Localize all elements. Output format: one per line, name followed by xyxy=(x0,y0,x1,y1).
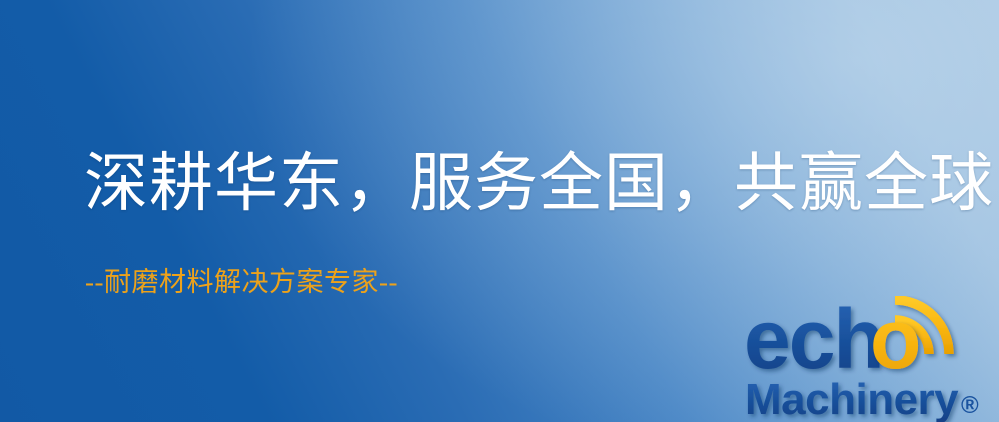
registered-mark-text: ® xyxy=(961,392,979,419)
logo-wordmark-text: ech xyxy=(744,296,883,386)
logo-wordmark-o: o xyxy=(870,296,921,386)
echo-machinery-logo[interactable]: ech o Machinery ® xyxy=(744,296,994,422)
logo-subword: Machinery xyxy=(745,375,959,422)
page-title: 深耕华东，服务全国，共赢全球 xyxy=(84,150,994,217)
logo-subword-text: Machinery xyxy=(745,375,959,422)
logo-wordmark-ech: ech xyxy=(744,296,883,386)
hero-banner: 深耕华东，服务全国，共赢全球 --耐磨材料解决方案专家-- xyxy=(0,0,999,422)
logo-o-text: o xyxy=(870,296,921,386)
page-subtitle: --耐磨材料解决方案专家-- xyxy=(85,266,398,298)
registered-trademark-icon: ® xyxy=(961,392,979,419)
